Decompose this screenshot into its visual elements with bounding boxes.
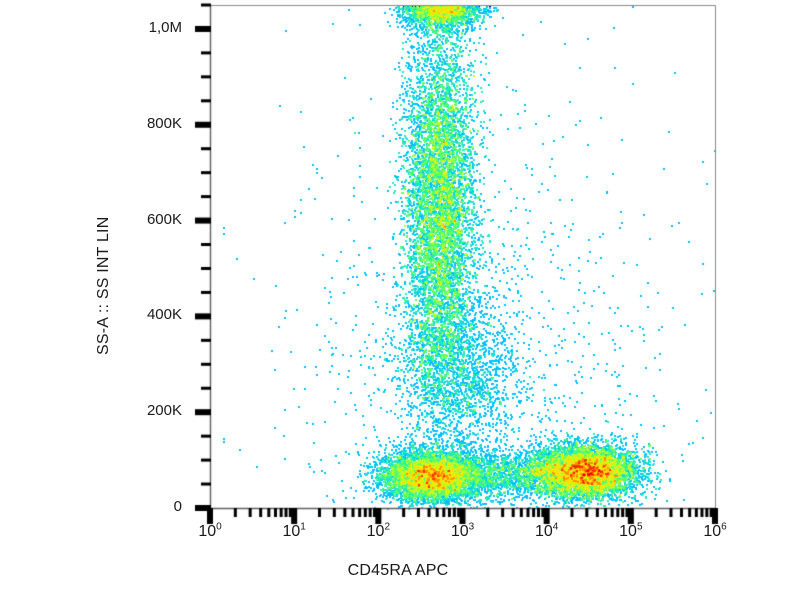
x-tick-label: 102 [367, 523, 390, 541]
y-tick-label: 200K [0, 402, 182, 419]
x-axis-title: CD45RA APC [348, 562, 449, 580]
x-tick-label: 101 [282, 523, 305, 541]
flow-cytometry-plot-page: SS-A :: SS INT LIN CD45RA APC 0200K400K6… [0, 0, 800, 600]
y-tick-label: 400K [0, 306, 182, 323]
x-tick-label: 100 [198, 523, 221, 541]
x-tick-label: 106 [703, 523, 726, 541]
x-tick-label: 104 [535, 523, 558, 541]
y-tick-label: 800K [0, 115, 182, 132]
y-tick-label: 0 [0, 498, 182, 515]
x-tick-label: 103 [451, 523, 474, 541]
y-tick-label: 600K [0, 211, 182, 228]
y-axis-title: SS-A :: SS INT LIN [95, 217, 113, 355]
x-tick-label: 105 [619, 523, 642, 541]
y-tick-label: 1,0M [0, 19, 182, 36]
